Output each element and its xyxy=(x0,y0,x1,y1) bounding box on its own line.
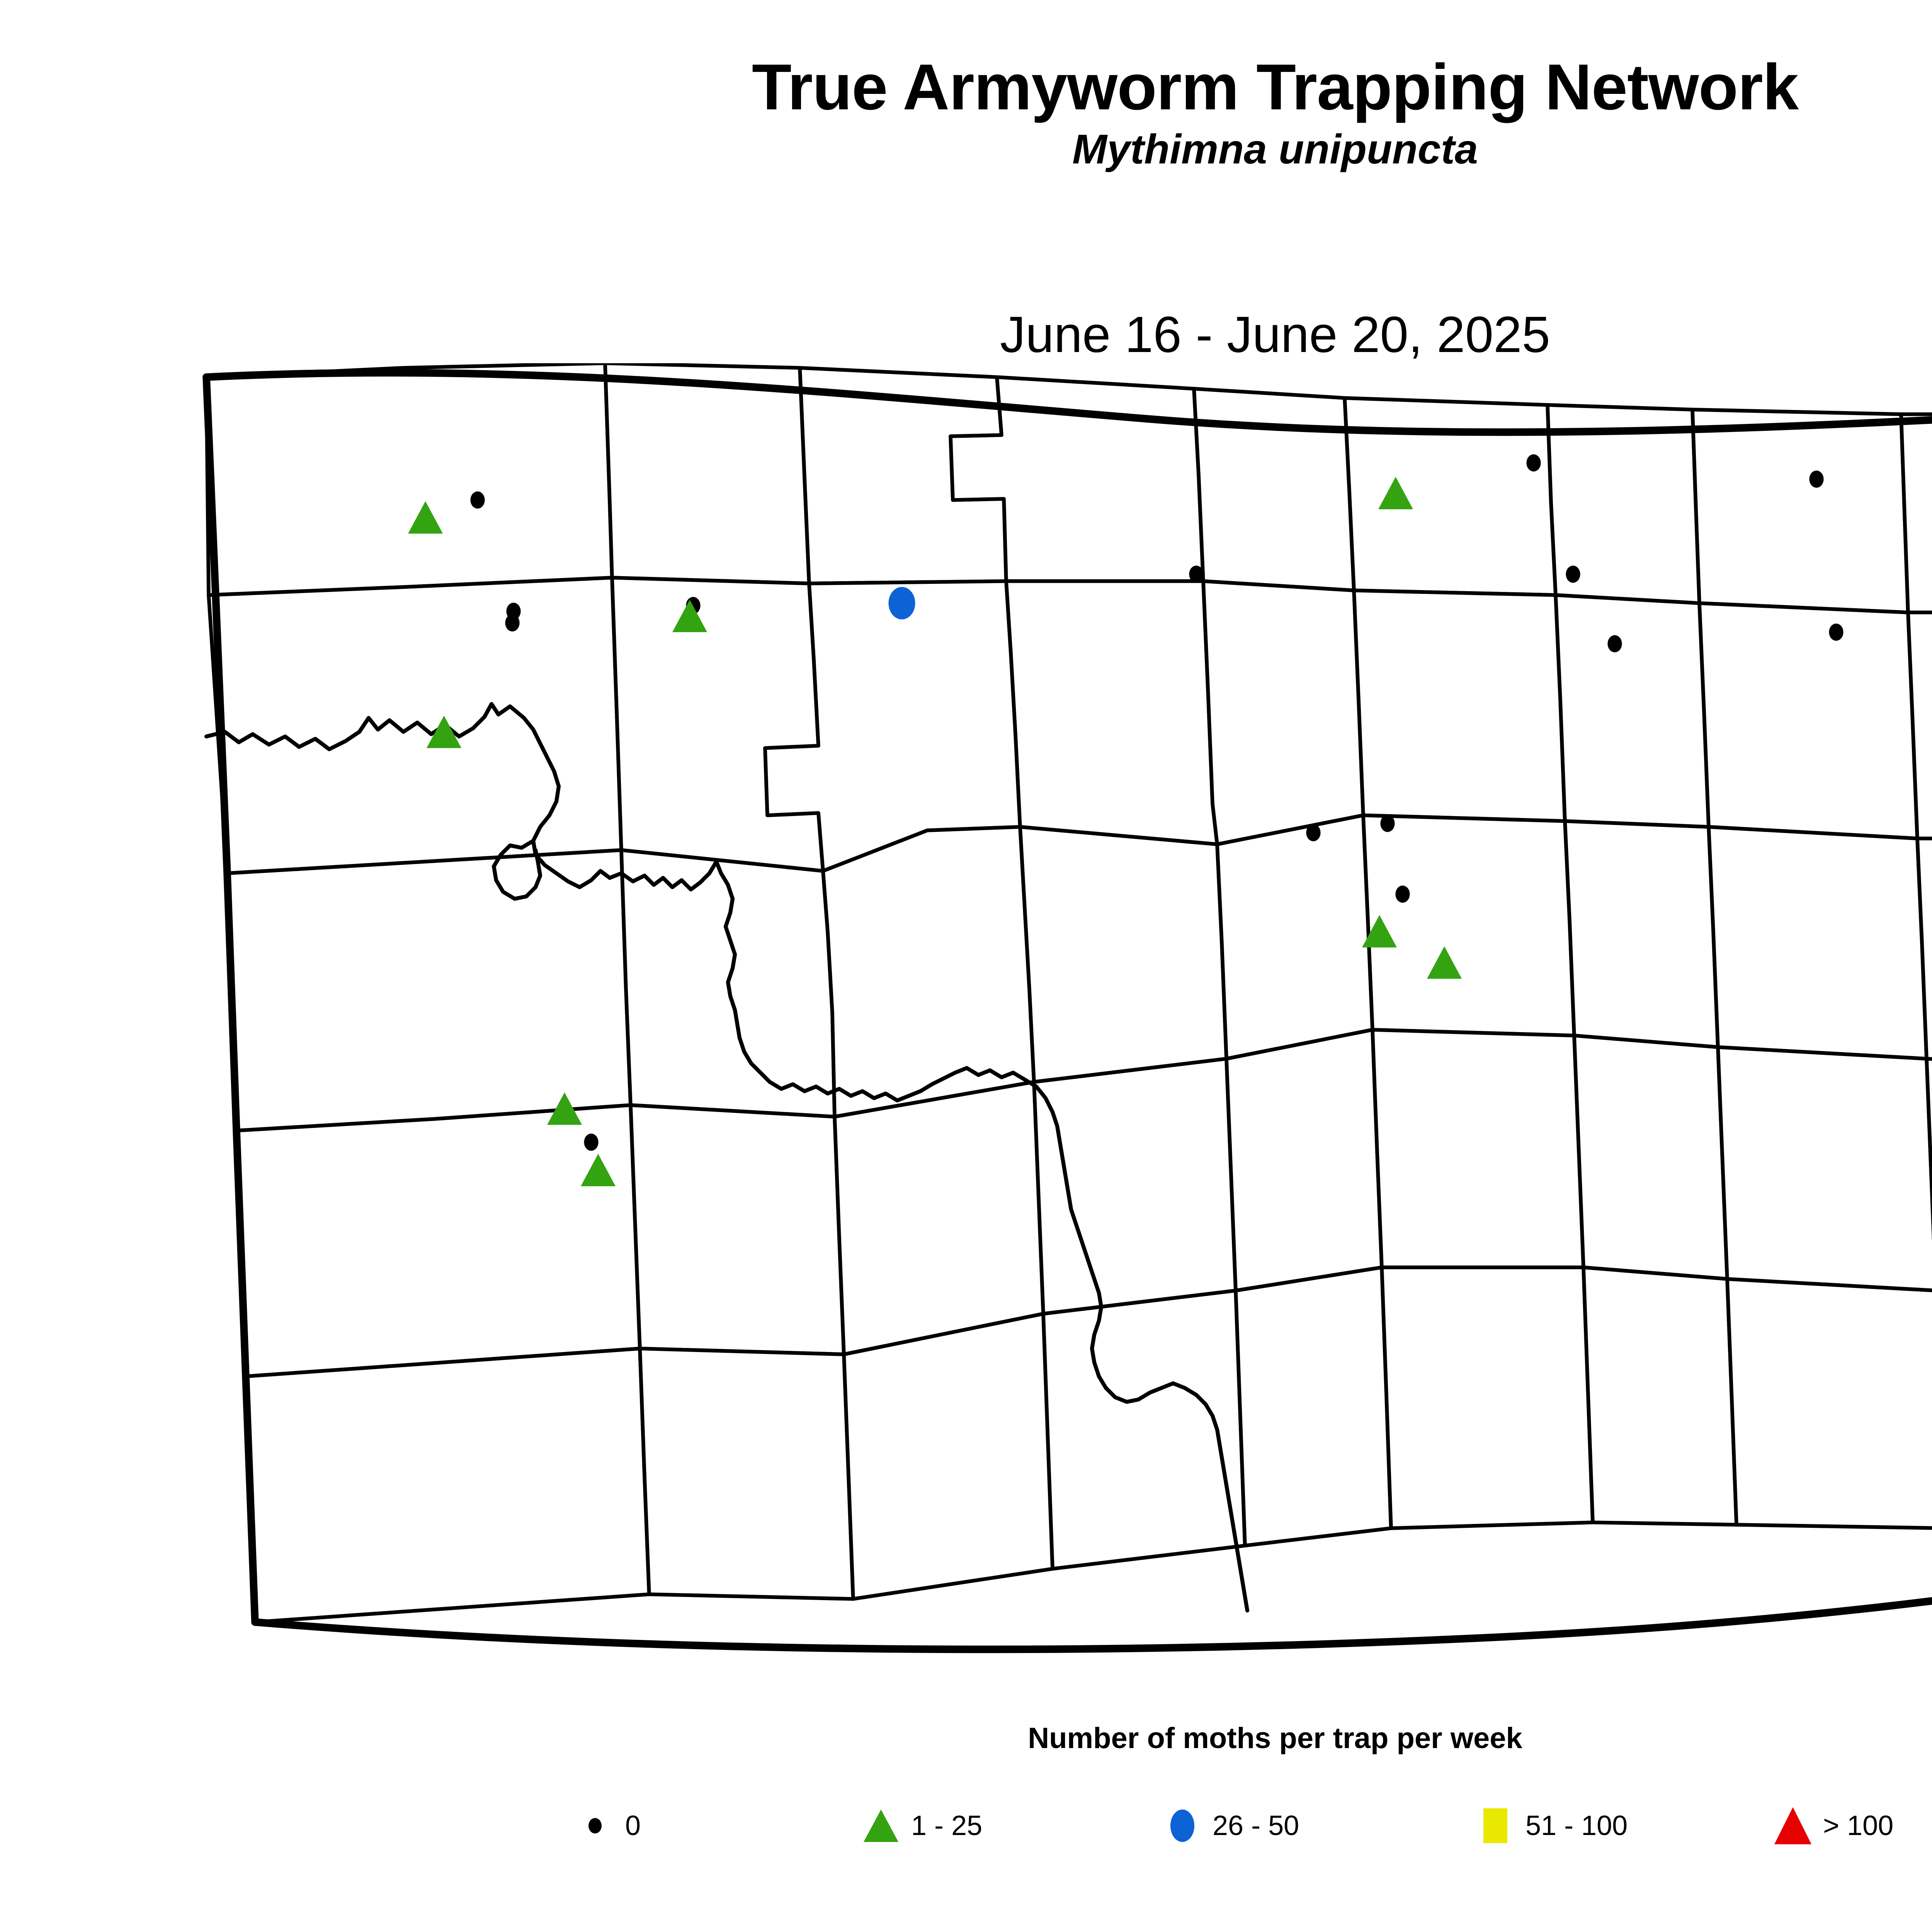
legend-item-zero: 0 xyxy=(572,1797,641,1855)
red-triangle-icon xyxy=(1770,1803,1816,1849)
title-block: True Armyworm Trapping Network Mythimna … xyxy=(0,54,1932,171)
trap-marker-zero xyxy=(470,492,485,509)
legend-label-zero: 0 xyxy=(625,1810,641,1842)
legend-item-26-50: 26 - 50 xyxy=(1159,1797,1299,1855)
legend-label-over-100: > 100 xyxy=(1823,1810,1893,1842)
blue-circle-icon xyxy=(1159,1803,1206,1849)
green-triangle-icon xyxy=(858,1803,904,1849)
legend-label-1-25: 1 - 25 xyxy=(911,1810,982,1842)
legend-title: Number of moths per trap per week xyxy=(0,1721,1932,1755)
yellow-square-icon xyxy=(1472,1803,1519,1849)
trap-marker-26-50 xyxy=(889,587,915,619)
trap-marker-zero xyxy=(505,614,519,631)
trap-marker-zero xyxy=(1380,815,1395,832)
trap-marker-zero xyxy=(1829,624,1843,641)
trap-marker-zero xyxy=(584,1134,598,1151)
trap-marker-zero xyxy=(1809,471,1823,488)
legend: 0 1 - 25 26 - 50 51 - 100 > 100 xyxy=(572,1797,1932,1855)
trap-marker-zero xyxy=(1189,566,1203,583)
legend-label-51-100: 51 - 100 xyxy=(1526,1810,1628,1842)
legend-item-1-25: 1 - 25 xyxy=(858,1797,982,1855)
trap-marker-zero xyxy=(1395,886,1410,903)
county-boundaries xyxy=(206,363,1932,1622)
legend-item-over-100: > 100 xyxy=(1770,1797,1893,1855)
black-dot-icon xyxy=(572,1803,618,1849)
map-svg xyxy=(185,363,1932,1685)
species-subtitle: Mythimna unipuncta xyxy=(0,127,1932,171)
legend-item-51-100: 51 - 100 xyxy=(1472,1797,1628,1855)
trap-marker-zero xyxy=(1526,454,1541,471)
trap-marker-zero xyxy=(1306,824,1320,841)
trap-marker-zero xyxy=(1566,566,1580,583)
page-title: True Armyworm Trapping Network xyxy=(0,54,1932,120)
legend-label-26-50: 26 - 50 xyxy=(1213,1810,1299,1842)
north-dakota-map xyxy=(185,363,1932,1685)
date-range-label: June 16 - June 20, 2025 xyxy=(0,305,1932,364)
map-page: True Armyworm Trapping Network Mythimna … xyxy=(0,0,1932,1932)
trap-marker-zero xyxy=(1607,635,1622,652)
